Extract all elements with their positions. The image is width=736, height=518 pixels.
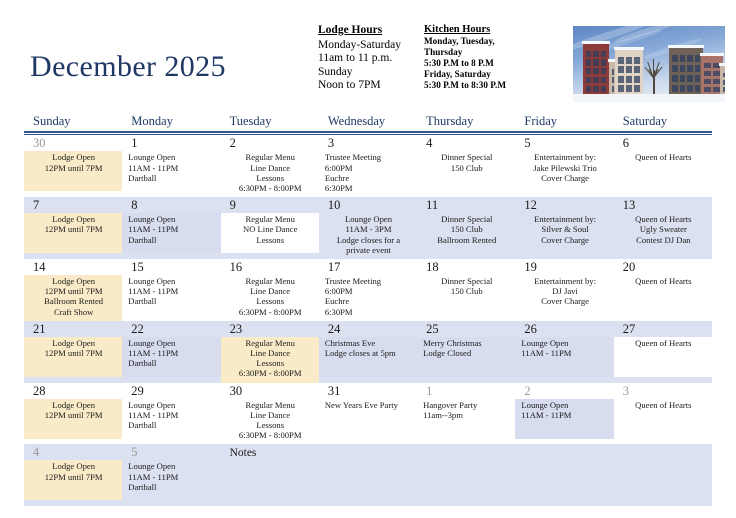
event-line: Craft Show: [28, 307, 119, 317]
day-number: 25: [417, 321, 515, 337]
event-line: 11am--3pm: [423, 410, 512, 420]
calendar-day-cell[interactable]: [614, 444, 712, 506]
calendar-day-cell[interactable]: 30Regular MenuLine DanceLessons6:30PM - …: [221, 383, 319, 445]
day-events: Lounge Open11AM - 3PMLodge closes for ap…: [319, 213, 417, 259]
day-events: Lodge Open12PM until 7PM: [24, 213, 122, 253]
day-number: 3: [319, 135, 417, 151]
event-line: Euchre: [325, 296, 414, 306]
day-number: 10: [319, 197, 417, 213]
day-number: 23: [221, 321, 319, 337]
day-number: 2: [515, 383, 613, 399]
event-line: NO Line Dance: [225, 224, 316, 234]
event-line: 6:30PM - 8:00PM: [225, 183, 316, 193]
calendar-day-cell[interactable]: 5Entertainment by:Jake Pilewski TrioCove…: [515, 135, 613, 197]
day-events: Christmas EveLodge closes at 5pm: [319, 337, 417, 377]
day-events: Lounge Open11AM - 11PMDartball: [122, 460, 220, 500]
calendar-day-cell[interactable]: 18Dinner Special150 Club: [417, 259, 515, 321]
day-number: 24: [319, 321, 417, 337]
event-line: Lessons: [225, 173, 316, 183]
day-events: Regular MenuLine DanceLessons6:30PM - 8:…: [221, 337, 319, 383]
day-events: Lounge Open11AM - 11PM: [515, 337, 613, 377]
event-line: Line Dance: [225, 163, 316, 173]
day-events: Entertainment by:DJ JaviCover Charge: [515, 275, 613, 315]
day-events: Lounge Open11AM - 11PM: [515, 399, 613, 439]
day-number: 5: [515, 135, 613, 151]
day-events: Lounge Open11AM - 11PMDartball: [122, 151, 220, 191]
event-line: Lounge Open: [128, 461, 217, 471]
day-events: Trustee Meeting6:00PMEuchre6:30PM: [319, 275, 417, 321]
event-line: Dartball: [128, 173, 217, 183]
day-events: Merry ChristmasLodge Closed: [417, 337, 515, 377]
day-number: 27: [614, 321, 712, 337]
calendar-day-cell[interactable]: 12Entertainment by:Silver & SoulCover Ch…: [515, 197, 613, 259]
calendar-day-cell[interactable]: 13Queen of HeartsUgly SweaterContest DJ …: [614, 197, 712, 259]
calendar-week-row: 21Lodge Open12PM until 7PM22Lounge Open1…: [24, 321, 712, 383]
event-line: Jake Pilewski Trio: [519, 163, 610, 173]
day-number: 2: [221, 135, 319, 151]
event-line: Merry Christmas: [423, 338, 512, 348]
day-events: Dinner Special150 ClubBallroom Rented: [417, 213, 515, 253]
event-line: Cover Charge: [519, 235, 610, 245]
day-of-week-header: Sunday Monday Tuesday Wednesday Thursday…: [24, 112, 712, 131]
event-line: 11AM - 11PM: [128, 163, 217, 173]
event-line: Ballroom Rented: [28, 296, 119, 306]
calendar-day-cell[interactable]: 7Lodge Open12PM until 7PM: [24, 197, 122, 259]
day-number: 29: [122, 383, 220, 399]
event-line: Lounge Open: [128, 214, 217, 224]
calendar-day-cell[interactable]: 17Trustee Meeting6:00PMEuchre6:30PM: [319, 259, 417, 321]
event-line: Queen of Hearts: [618, 338, 709, 348]
event-line: Queen of Hearts: [618, 400, 709, 410]
day-number: 26: [515, 321, 613, 337]
event-line: 150 Club: [421, 224, 512, 234]
page-header: December 2025 Lodge Hours Monday-Saturda…: [0, 0, 736, 112]
day-number: 7: [24, 197, 122, 213]
event-line: Christmas Eve: [325, 338, 414, 348]
event-line: Queen of Hearts: [618, 152, 709, 162]
event-line: Lounge Open: [521, 338, 610, 348]
dow-monday: Monday: [122, 112, 220, 131]
event-line: Lodge Open: [28, 276, 119, 286]
event-line: 11AM - 11PM: [128, 348, 217, 358]
calendar-day-cell[interactable]: 16Regular MenuLine DanceLessons6:30PM - …: [221, 259, 319, 321]
calendar-week-row: 28Lodge Open12PM until 7PM29Lounge Open1…: [24, 383, 712, 445]
calendar-day-cell[interactable]: 25Merry ChristmasLodge Closed: [417, 321, 515, 383]
event-line: 12PM until 7PM: [28, 224, 119, 234]
dow-wednesday: Wednesday: [319, 112, 417, 131]
calendar-day-cell[interactable]: 29Lounge Open11AM - 11PMDartball: [122, 383, 220, 445]
calendar-day-cell[interactable]: 30Lodge Open12PM until 7PM: [24, 135, 122, 197]
calendar-day-cell[interactable]: 14Lodge Open12PM until 7PMBallroom Rente…: [24, 259, 122, 321]
calendar-day-cell[interactable]: 1Lounge Open11AM - 11PMDartball: [122, 135, 220, 197]
event-line: Ballroom Rented: [421, 235, 512, 245]
event-line: Lodge Open: [28, 400, 119, 410]
calendar-day-cell[interactable]: 21Lodge Open12PM until 7PM: [24, 321, 122, 383]
event-line: Dinner Special: [421, 152, 512, 162]
event-line: private event: [323, 245, 414, 255]
kitchen-hours-heading: Kitchen Hours: [424, 24, 506, 35]
calendar-week-row: 30Lodge Open12PM until 7PM1Lounge Open11…: [24, 135, 712, 197]
day-events: Queen of Hearts: [614, 399, 712, 439]
calendar-day-cell[interactable]: 20Queen of Hearts: [614, 259, 712, 321]
lodge-hours-line: Monday-Saturday: [318, 39, 401, 53]
day-number: 20: [614, 259, 712, 275]
calendar-day-cell[interactable]: 15Lounge Open11AM - 11PMDartball: [122, 259, 220, 321]
day-number: 6: [614, 135, 712, 151]
day-events: Regular MenuLine DanceLessons6:30PM - 8:…: [221, 275, 319, 321]
event-line: 11AM - 11PM: [128, 286, 217, 296]
calendar-day-cell[interactable]: 22Lounge Open11AM - 11PMDartball: [122, 321, 220, 383]
event-line: Queen of Hearts: [618, 214, 709, 224]
lodge-hours-block: Lodge Hours Monday-Saturday 11am to 11 p…: [318, 24, 401, 93]
event-line: Lodge Open: [28, 461, 119, 471]
event-line: 12PM until 7PM: [28, 472, 119, 482]
event-line: 6:30PM - 8:00PM: [225, 430, 316, 440]
day-events: Queen of Hearts: [614, 275, 712, 315]
dow-thursday: Thursday: [417, 112, 515, 131]
event-line: Line Dance: [225, 286, 316, 296]
notes-label: Notes: [221, 444, 319, 460]
event-line: Dartball: [128, 296, 217, 306]
day-number: 3: [614, 383, 712, 399]
lodge-hours-heading: Lodge Hours: [318, 24, 401, 38]
day-events: Regular MenuLine DanceLessons6:30PM - 8:…: [221, 151, 319, 197]
event-line: Lessons: [225, 235, 316, 245]
day-events: Dinner Special150 Club: [417, 275, 515, 315]
day-events: Lodge Open12PM until 7PM: [24, 151, 122, 191]
dow-saturday: Saturday: [614, 112, 712, 131]
event-line: 6:00PM: [325, 163, 414, 173]
day-number: 1: [417, 383, 515, 399]
lodge-hours-line: Noon to 7PM: [318, 79, 401, 93]
calendar-day-cell[interactable]: 4Lodge Open12PM until 7PM: [24, 444, 122, 506]
event-line: Silver & Soul: [519, 224, 610, 234]
day-events: Lounge Open11AM - 11PMDartball: [122, 275, 220, 315]
calendar-day-cell[interactable]: [515, 444, 613, 506]
event-line: New Years Eve Party: [325, 400, 414, 410]
calendar-day-cell[interactable]: 31New Years Eve Party: [319, 383, 417, 445]
day-number: 17: [319, 259, 417, 275]
calendar-day-cell[interactable]: Notes: [221, 444, 319, 506]
event-line: 11AM - 11PM: [521, 348, 610, 358]
day-number: 16: [221, 259, 319, 275]
calendar-day-cell[interactable]: 24Christmas EveLodge closes at 5pm: [319, 321, 417, 383]
event-line: 11AM - 11PM: [128, 224, 217, 234]
event-line: Regular Menu: [225, 338, 316, 348]
calendar-grid: Sunday Monday Tuesday Wednesday Thursday…: [24, 112, 712, 506]
calendar-day-cell[interactable]: 2Regular MenuLine DanceLessons6:30PM - 8…: [221, 135, 319, 197]
day-events: Queen of Hearts: [614, 337, 712, 377]
calendar-day-cell[interactable]: 3Trustee Meeting6:00PMEuchre6:30PM: [319, 135, 417, 197]
lodge-hours-line: 11am to 11 p.m.: [318, 52, 401, 66]
day-number: 18: [417, 259, 515, 275]
event-line: Entertainment by:: [519, 152, 610, 162]
day-events: Lounge Open11AM - 11PMDartball: [122, 337, 220, 377]
event-line: Dartball: [128, 482, 217, 492]
calendar-day-cell[interactable]: 1Hangover Party11am--3pm: [417, 383, 515, 445]
event-line: 11AM - 11PM: [128, 410, 217, 420]
event-line: Dartball: [128, 358, 217, 368]
calendar-day-cell[interactable]: 9Regular MenuNO Line DanceLessons: [221, 197, 319, 259]
event-line: Lodge Closed: [423, 348, 512, 358]
event-line: Lounge Open: [128, 152, 217, 162]
calendar-day-cell[interactable]: 2Lounge Open11AM - 11PM: [515, 383, 613, 445]
event-line: Trustee Meeting: [325, 276, 414, 286]
day-events: Lodge Open12PM until 7PM: [24, 460, 122, 500]
event-line: Lounge Open: [323, 214, 414, 224]
calendar-day-cell[interactable]: 3Queen of Hearts: [614, 383, 712, 445]
event-line: Regular Menu: [225, 152, 316, 162]
day-events: New Years Eve Party: [319, 399, 417, 439]
event-line: Lessons: [225, 296, 316, 306]
calendar-day-cell[interactable]: 6Queen of Hearts: [614, 135, 712, 197]
day-events: Queen of HeartsUgly SweaterContest DJ Da…: [614, 213, 712, 253]
day-number: 28: [24, 383, 122, 399]
day-events: Queen of Hearts: [614, 151, 712, 191]
calendar-day-cell[interactable]: 28Lodge Open12PM until 7PM: [24, 383, 122, 445]
event-line: Lessons: [225, 420, 316, 430]
day-number: 22: [122, 321, 220, 337]
day-number: 4: [24, 444, 122, 460]
event-line: Contest DJ Dan: [618, 235, 709, 245]
day-number: 1: [122, 135, 220, 151]
kitchen-hours-line: Thursday: [424, 47, 506, 58]
event-line: Dartball: [128, 235, 217, 245]
event-line: Lodge closes at 5pm: [325, 348, 414, 358]
dow-friday: Friday: [515, 112, 613, 131]
day-number: 15: [122, 259, 220, 275]
dow-sunday: Sunday: [24, 112, 122, 131]
day-events: Lodge Open12PM until 7PM: [24, 399, 122, 439]
event-line: Cover Charge: [519, 173, 610, 183]
event-line: Ugly Sweater: [618, 224, 709, 234]
calendar-day-cell[interactable]: 26Lounge Open11AM - 11PM: [515, 321, 613, 383]
day-events: Entertainment by:Jake Pilewski TrioCover…: [515, 151, 613, 191]
kitchen-hours-line: 5:30 P.M to 8 P.M: [424, 58, 506, 69]
event-line: 11AM - 11PM: [128, 472, 217, 482]
day-number: 30: [24, 135, 122, 151]
day-events: Lounge Open11AM - 11PMDartball: [122, 213, 220, 253]
event-line: 6:30PM - 8:00PM: [225, 368, 316, 378]
event-line: Lodge Open: [28, 338, 119, 348]
kitchen-hours-line: 5:30 P.M to 8:30 P.M: [424, 80, 506, 91]
day-events: Lodge Open12PM until 7PMBallroom RentedC…: [24, 275, 122, 321]
day-number: 31: [319, 383, 417, 399]
day-number: 11: [417, 197, 515, 213]
calendar-week-row: 14Lodge Open12PM until 7PMBallroom Rente…: [24, 259, 712, 321]
calendar-day-cell[interactable]: 11Dinner Special150 ClubBallroom Rented: [417, 197, 515, 259]
day-events: Regular MenuNO Line DanceLessons: [221, 213, 319, 253]
event-line: 12PM until 7PM: [28, 410, 119, 420]
event-line: DJ Javi: [519, 286, 610, 296]
calendar-day-cell[interactable]: [417, 444, 515, 506]
dow-tuesday: Tuesday: [221, 112, 319, 131]
day-number: 4: [417, 135, 515, 151]
event-line: Dartball: [128, 420, 217, 430]
event-line: Regular Menu: [225, 400, 316, 410]
event-line: 6:00PM: [325, 286, 414, 296]
calendar-day-cell[interactable]: 8Lounge Open11AM - 11PMDartball: [122, 197, 220, 259]
calendar-day-cell[interactable]: 5Lounge Open11AM - 11PMDartball: [122, 444, 220, 506]
calendar-week-row: 4Lodge Open12PM until 7PM5Lounge Open11A…: [24, 444, 712, 506]
event-line: 12PM until 7PM: [28, 286, 119, 296]
event-line: 12PM until 7PM: [28, 163, 119, 173]
event-line: 6:30PM: [325, 183, 414, 193]
event-line: Hangover Party: [423, 400, 512, 410]
event-line: 150 Club: [421, 286, 512, 296]
day-number: 30: [221, 383, 319, 399]
lodge-hours-line: Sunday: [318, 66, 401, 80]
day-events: Hangover Party11am--3pm: [417, 399, 515, 439]
event-line: Cover Charge: [519, 296, 610, 306]
day-number: 19: [515, 259, 613, 275]
event-line: Lounge Open: [128, 338, 217, 348]
event-line: Lounge Open: [128, 400, 217, 410]
event-line: 6:30PM: [325, 307, 414, 317]
day-number: 13: [614, 197, 712, 213]
event-line: Dinner Special: [421, 214, 512, 224]
event-line: Lodge Open: [28, 214, 119, 224]
event-line: Lounge Open: [128, 276, 217, 286]
event-line: Lodge closes for a: [323, 235, 414, 245]
day-number: 21: [24, 321, 122, 337]
calendar-day-cell[interactable]: 27Queen of Hearts: [614, 321, 712, 383]
day-events: Entertainment by:Silver & SoulCover Char…: [515, 213, 613, 253]
day-events: Regular MenuLine DanceLessons6:30PM - 8:…: [221, 399, 319, 445]
event-line: Lodge Open: [28, 152, 119, 162]
event-line: Line Dance: [225, 348, 316, 358]
event-line: Trustee Meeting: [325, 152, 414, 162]
event-line: Entertainment by:: [519, 276, 610, 286]
day-number: 5: [122, 444, 220, 460]
day-number: 14: [24, 259, 122, 275]
day-events: Lodge Open12PM until 7PM: [24, 337, 122, 377]
winter-street-illustration: [573, 26, 725, 102]
event-line: 6:30PM - 8:00PM: [225, 307, 316, 317]
event-line: Line Dance: [225, 410, 316, 420]
calendar-week-row: 7Lodge Open12PM until 7PM8Lounge Open11A…: [24, 197, 712, 259]
page-title: December 2025: [30, 50, 226, 84]
day-events: Dinner Special150 Club: [417, 151, 515, 191]
event-line: Regular Menu: [225, 214, 316, 224]
kitchen-hours-line: Friday, Saturday: [424, 69, 506, 80]
kitchen-hours-line: Monday, Tuesday,: [424, 36, 506, 47]
day-number: 8: [122, 197, 220, 213]
event-line: Regular Menu: [225, 276, 316, 286]
event-line: 12PM until 7PM: [28, 348, 119, 358]
day-events: Lounge Open11AM - 11PMDartball: [122, 399, 220, 439]
calendar-weeks: 30Lodge Open12PM until 7PM1Lounge Open11…: [24, 135, 712, 506]
event-line: Euchre: [325, 173, 414, 183]
calendar-day-cell[interactable]: [319, 444, 417, 506]
event-line: Entertainment by:: [519, 214, 610, 224]
event-line: Dinner Special: [421, 276, 512, 286]
event-line: Lessons: [225, 358, 316, 368]
calendar-day-cell[interactable]: 10Lounge Open11AM - 3PMLodge closes for …: [319, 197, 417, 259]
calendar-day-cell[interactable]: 19Entertainment by:DJ JaviCover Charge: [515, 259, 613, 321]
day-number: 12: [515, 197, 613, 213]
event-line: 11AM - 3PM: [323, 224, 414, 234]
event-line: 11AM - 11PM: [521, 410, 610, 420]
day-number: 9: [221, 197, 319, 213]
event-line: Lounge Open: [521, 400, 610, 410]
event-line: Queen of Hearts: [618, 276, 709, 286]
day-events: Trustee Meeting6:00PMEuchre6:30PM: [319, 151, 417, 197]
calendar-day-cell[interactable]: 23Regular MenuLine DanceLessons6:30PM - …: [221, 321, 319, 383]
calendar-day-cell[interactable]: 4Dinner Special150 Club: [417, 135, 515, 197]
kitchen-hours-block: Kitchen Hours Monday, Tuesday, Thursday …: [424, 24, 506, 91]
event-line: 150 Club: [421, 163, 512, 173]
